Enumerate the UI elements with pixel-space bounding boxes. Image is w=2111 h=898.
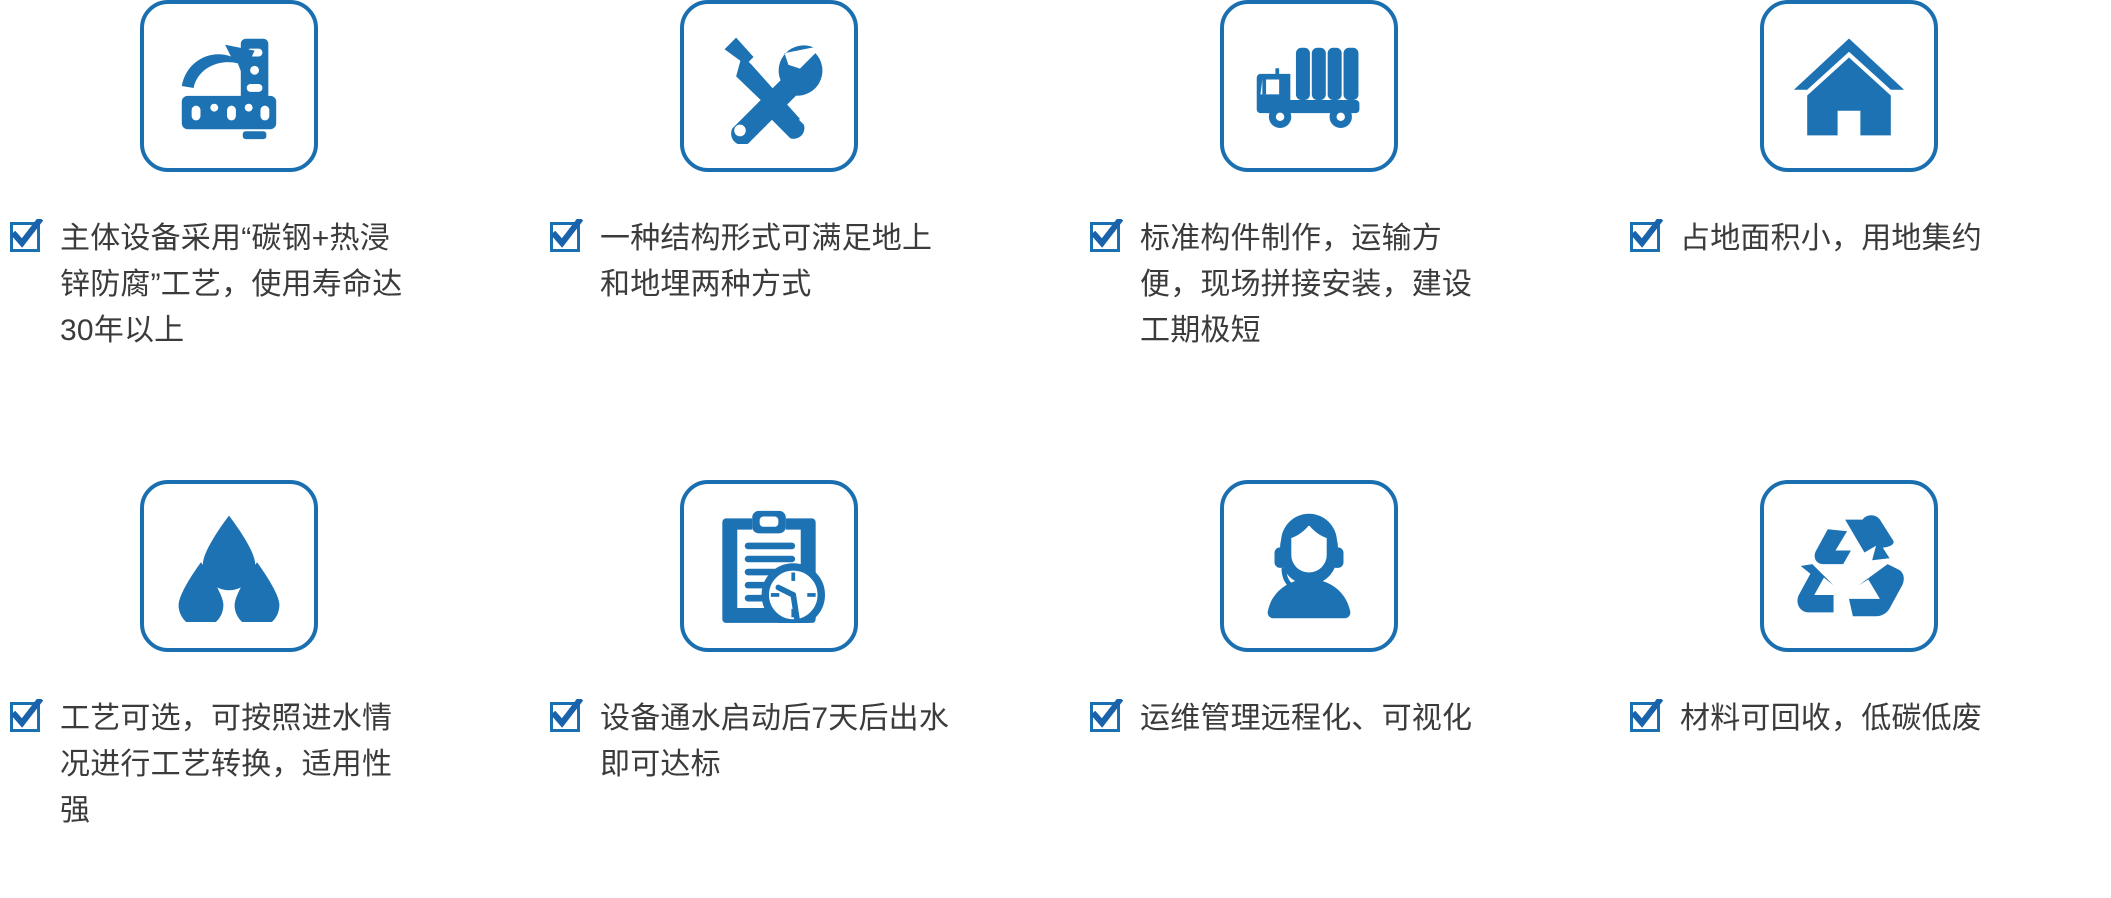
feature-grid-page: 主体设备采用“碳钢+热浸锌防腐”工艺，使用寿命达30年以上 (0, 0, 2111, 898)
recycle-icon (1791, 510, 1907, 622)
icon-tile-wrap (540, 0, 1080, 190)
feature-card-footprint: 占地面积小，用地集约 (1620, 0, 2111, 480)
icon-tile-wrap (0, 0, 540, 190)
icon-tile-wrap (1080, 480, 1620, 670)
checkbox-checked-icon (550, 222, 580, 252)
feature-card-recyclable: 材料可回收，低碳低废 (1620, 480, 2111, 898)
headset-operator-icon (1254, 510, 1364, 622)
icon-tile (680, 0, 858, 172)
checkbox-checked-icon (1630, 702, 1660, 732)
icon-tile (1760, 0, 1938, 172)
checkbox-checked-icon (10, 222, 40, 252)
checkbox-checked-icon (1630, 222, 1660, 252)
feature-card-startup: 设备通水启动后7天后出水即可达标 (540, 480, 1080, 898)
feature-caption: 材料可回收，低碳低废 (1680, 696, 1982, 742)
checkbox-checked-icon (1090, 702, 1120, 732)
feature-card-structure: 一种结构形式可满足地上和地埋两种方式 (540, 0, 1080, 480)
feature-text-row: 工艺可选，可按照进水情况进行工艺转换，适用性强 (0, 696, 540, 834)
feature-caption: 运维管理远程化、可视化 (1140, 696, 1472, 742)
feature-text-row: 主体设备采用“碳钢+热浸锌防腐”工艺，使用寿命达30年以上 (0, 216, 540, 354)
checkbox-checked-icon (550, 702, 580, 732)
feature-caption: 主体设备采用“碳钢+热浸锌防腐”工艺，使用寿命达30年以上 (60, 216, 408, 354)
icon-tile (1220, 0, 1398, 172)
feature-caption: 设备通水启动后7天后出水即可达标 (600, 696, 950, 788)
clipboard-clock-icon (713, 509, 825, 623)
water-drops-icon (173, 510, 285, 622)
feature-caption: 工艺可选，可按照进水情况进行工艺转换，适用性强 (60, 696, 408, 834)
icon-tile-wrap (0, 480, 540, 670)
feature-text-row: 一种结构形式可满足地上和地埋两种方式 (540, 216, 1080, 308)
checkbox-checked-icon (1090, 222, 1120, 252)
icon-tile-wrap (1620, 0, 2111, 190)
equipment-upgrade-icon (170, 27, 288, 145)
icon-tile (1760, 480, 1938, 652)
feature-caption: 标准构件制作，运输方便，现场拼接安装，建设工期极短 (1140, 216, 1490, 354)
feature-grid: 主体设备采用“碳钢+热浸锌防腐”工艺，使用寿命达30年以上 (0, 0, 2111, 898)
feature-card-remote-ops: 运维管理远程化、可视化 (1080, 480, 1620, 898)
feature-text-row: 标准构件制作，运输方便，现场拼接安装，建设工期极短 (1080, 216, 1620, 354)
feature-caption: 一种结构形式可满足地上和地埋两种方式 (600, 216, 950, 308)
checkbox-checked-icon (10, 702, 40, 732)
icon-tile-wrap (1620, 480, 2111, 670)
icon-tile (140, 480, 318, 652)
feature-caption: 占地面积小，用地集约 (1680, 216, 1982, 262)
icon-tile-wrap (540, 480, 1080, 670)
feature-text-row: 设备通水启动后7天后出水即可达标 (540, 696, 1080, 788)
feature-text-row: 运维管理远程化、可视化 (1080, 696, 1620, 742)
icon-tile (140, 0, 318, 172)
feature-text-row: 占地面积小，用地集约 (1620, 216, 2111, 262)
feature-card-durability: 主体设备采用“碳钢+热浸锌防腐”工艺，使用寿命达30年以上 (0, 0, 540, 480)
wrench-screwdriver-icon (711, 28, 827, 144)
feature-text-row: 材料可回收，低碳低废 (1620, 696, 2111, 742)
feature-card-process: 工艺可选，可按照进水情况进行工艺转换，适用性强 (0, 480, 540, 898)
cargo-truck-icon (1253, 42, 1365, 130)
icon-tile-wrap (1080, 0, 1620, 190)
feature-card-transport: 标准构件制作，运输方便，现场拼接安装，建设工期极短 (1080, 0, 1620, 480)
icon-tile (1220, 480, 1398, 652)
icon-tile (680, 480, 858, 652)
house-icon (1792, 36, 1906, 136)
